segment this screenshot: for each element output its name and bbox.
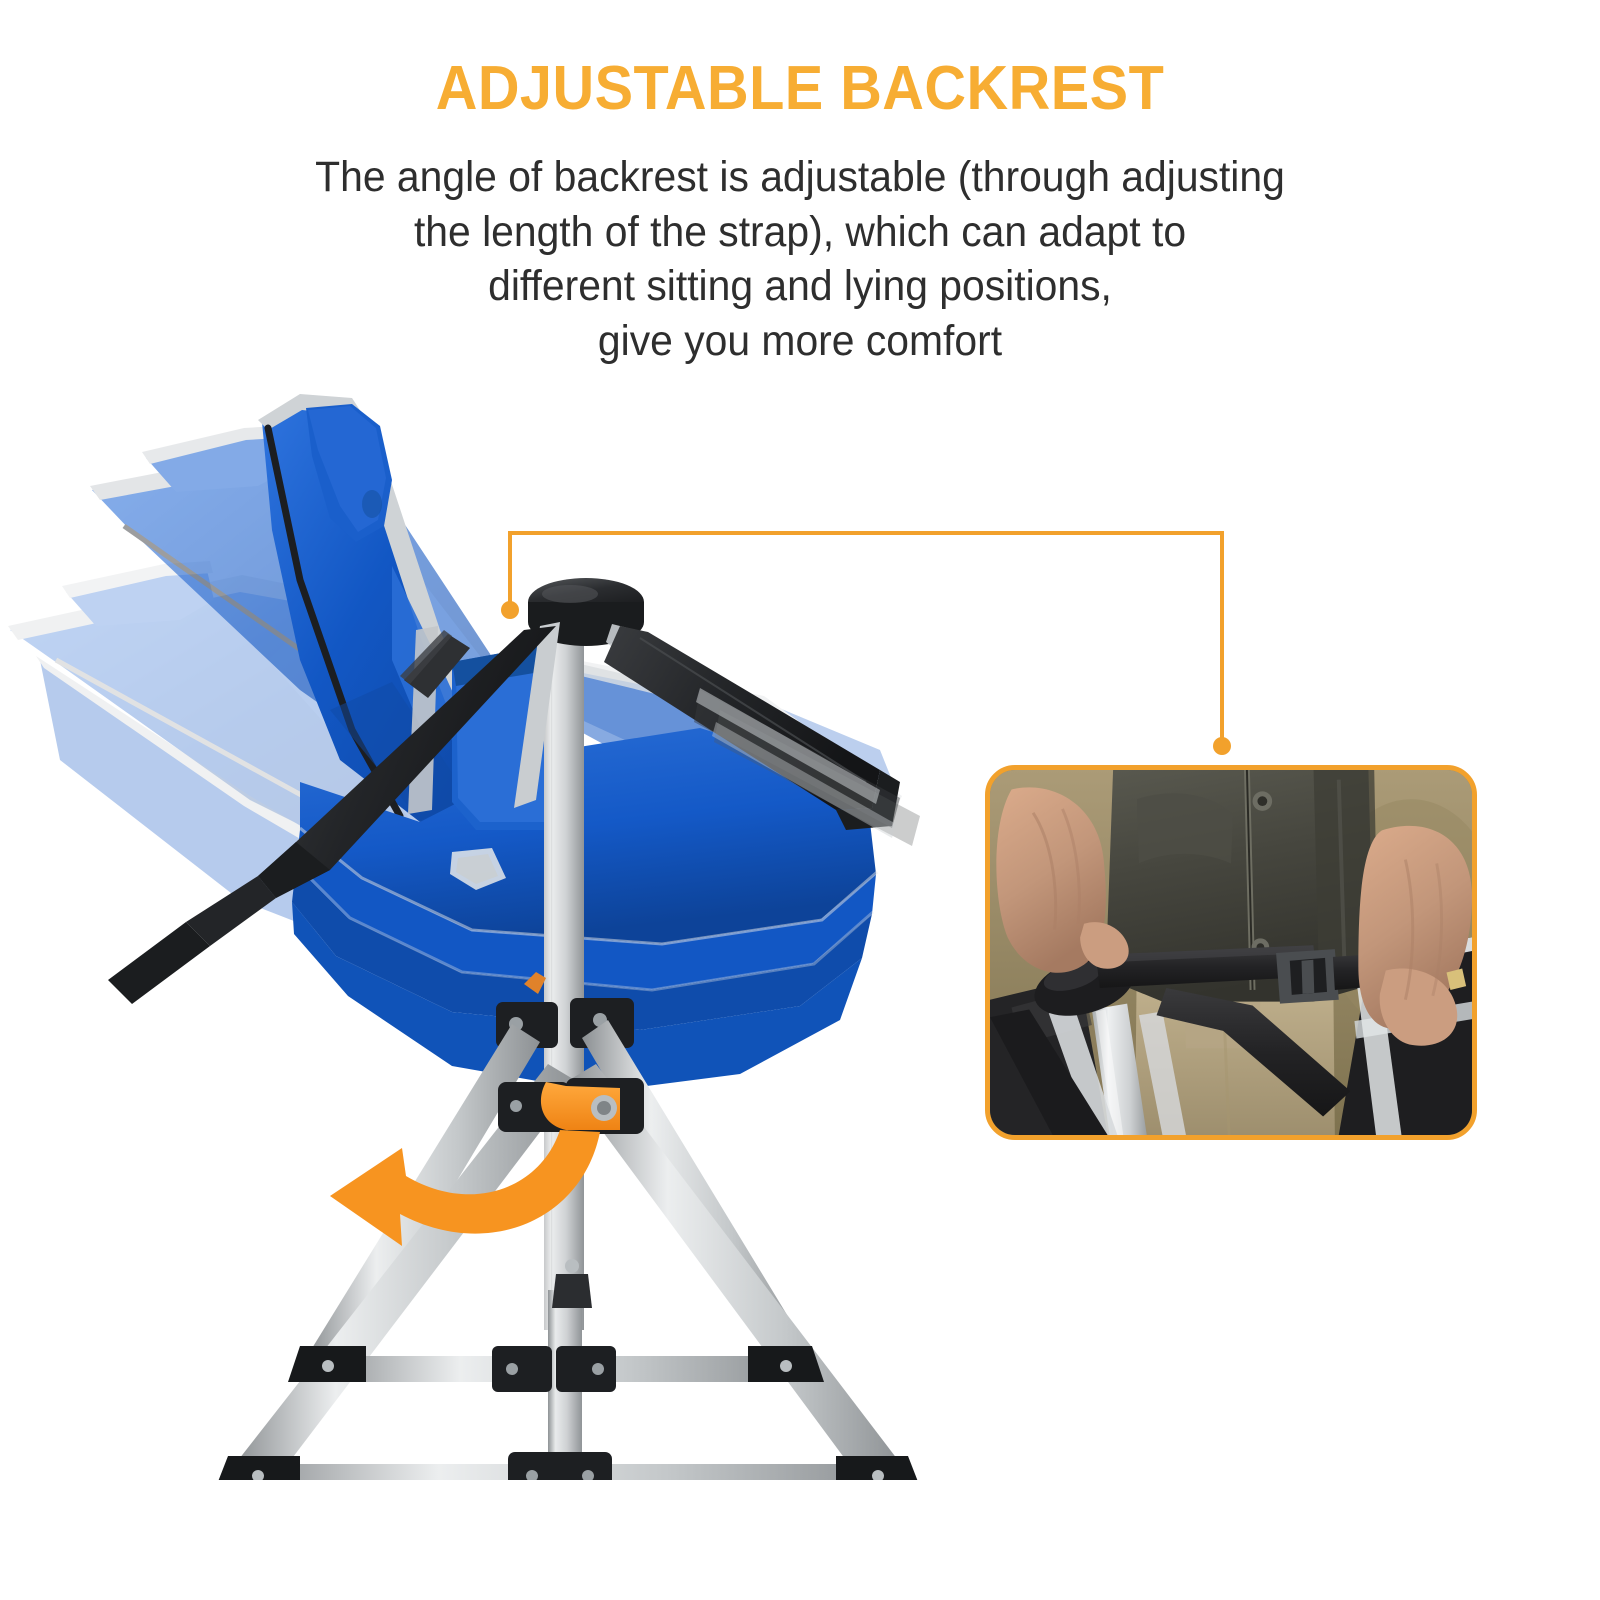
description-line-3: different sitting and lying positions, (230, 259, 1370, 314)
detail-photo-content (990, 770, 1472, 1135)
callout-dot-right (1213, 737, 1231, 755)
strap-adjustment-detail-photo (985, 765, 1477, 1140)
product-illustration (0, 330, 1000, 1480)
center-pole (544, 630, 584, 1330)
orange-clamp (498, 1078, 644, 1134)
detail-right-hand (1358, 826, 1472, 1046)
page-title: ADJUSTABLE BACKREST (56, 58, 1544, 120)
description-line-1: The angle of backrest is adjustable (thr… (230, 150, 1370, 205)
description-line-2: the length of the strap), which can adap… (230, 205, 1370, 260)
infographic-canvas: ADJUSTABLE BACKREST The angle of backres… (0, 0, 1600, 1600)
